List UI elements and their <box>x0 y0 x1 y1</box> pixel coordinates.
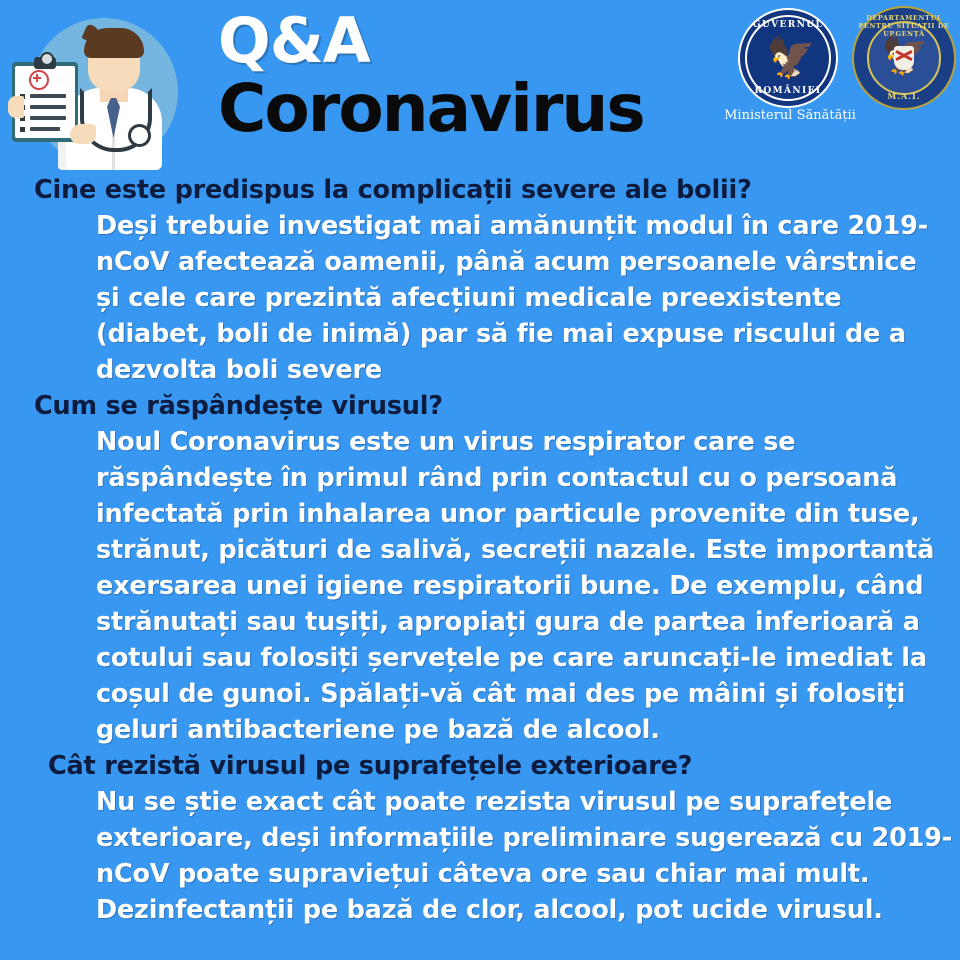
qa-poster: Q&A Coronavirus GUVERNUL 🦅 ROMÂNIEI Mini… <box>0 0 960 960</box>
ministry-caption: Ministerul Sănătății <box>720 108 860 123</box>
answer-line: și cele care prezintă afecțiuni medicale… <box>96 280 928 316</box>
answer-line: infectată prin inhalarea unor particule … <box>96 496 928 532</box>
stethoscope-bell-icon <box>128 124 151 147</box>
medical-cross-icon <box>29 70 49 90</box>
answer-line: strănutați sau tușiți, apropiați gura de… <box>96 604 928 640</box>
qa-item: Cum se răspândește virusul? Noul Coronav… <box>0 388 960 748</box>
answer-line: dezvolta boli severe <box>96 352 928 388</box>
answer-line: Noul Coronavirus este un virus respirato… <box>96 424 928 460</box>
logo-arc-top: GUVERNUL <box>740 20 836 30</box>
answer-line: exterioare, deși informațiile preliminar… <box>96 820 928 856</box>
checklist-line <box>30 116 66 120</box>
answer-line: Dezinfectanții pe bază de clor, alcool, … <box>96 892 928 928</box>
answer-line: (diabet, boli de inimă) par să fie mai e… <box>96 316 928 352</box>
doctor-hand-left <box>8 96 24 118</box>
answer-line: Deși trebuie investigat mai amănunțit mo… <box>96 208 928 244</box>
answer-line: coșul de gunoi. Spălați-vă cât mai des p… <box>96 676 928 712</box>
checklist-line <box>30 127 60 131</box>
question-heading: Cum se răspândește virusul? <box>0 388 960 424</box>
answer-line: geluri antibacteriene pe bază de alcool. <box>96 712 928 748</box>
doctor-illustration <box>8 14 184 170</box>
answer-line: strănut, picături de salivă, secreții na… <box>96 532 928 568</box>
dsu-arc-bottom: M.A.I. <box>854 91 954 101</box>
question-heading: Cât rezistă virusul pe suprafețele exter… <box>0 748 960 784</box>
answer-text: Deși trebuie investigat mai amănunțit mo… <box>0 208 960 388</box>
checklist-bullet <box>20 127 25 132</box>
answer-line: exersarea unei igiene respiratorii bune.… <box>96 568 928 604</box>
title-qa: Q&A <box>218 10 370 72</box>
eagle-icon: 🦅 <box>766 36 810 80</box>
answer-line: Nu se știe exact cât poate rezista virus… <box>96 784 928 820</box>
qa-item: Cine este predispus la complicații sever… <box>0 172 960 388</box>
qa-item: Cât rezistă virusul pe suprafețele exter… <box>0 748 960 928</box>
answer-line: nCoV poate supraviețui câteva ore sau ch… <box>96 856 928 892</box>
qa-content: Cine este predispus la complicații sever… <box>0 172 960 928</box>
clipboard-ring <box>40 52 54 66</box>
government-of-romania-logo: GUVERNUL 🦅 ROMÂNIEI <box>738 8 838 108</box>
question-heading: Cine este predispus la complicații sever… <box>0 172 960 208</box>
checklist-line <box>30 94 66 98</box>
logo-group: GUVERNUL 🦅 ROMÂNIEI Ministerul Sănătății… <box>720 4 956 144</box>
answer-text: Noul Coronavirus este un virus respirato… <box>0 424 960 748</box>
logo-arc-bottom: ROMÂNIEI <box>740 86 836 96</box>
dsu-emergency-department-logo: DEPARTAMENTUL PENTRU SITUAȚII DE URGENȚĂ… <box>852 6 956 110</box>
poster-header: Q&A Coronavirus GUVERNUL 🦅 ROMÂNIEI Mini… <box>0 0 960 172</box>
checklist-line <box>30 105 66 109</box>
answer-line: răspândește în primul rând prin contactu… <box>96 460 928 496</box>
shield-icon <box>894 46 914 70</box>
answer-text: Nu se știe exact cât poate rezista virus… <box>0 784 960 928</box>
doctor-hand-right <box>70 124 96 144</box>
answer-line: cotului sau folosiți șervețele pe care a… <box>96 640 928 676</box>
answer-line: nCoV afectează oamenii, până acum persoa… <box>96 244 928 280</box>
page-title: Coronavirus <box>218 76 644 142</box>
